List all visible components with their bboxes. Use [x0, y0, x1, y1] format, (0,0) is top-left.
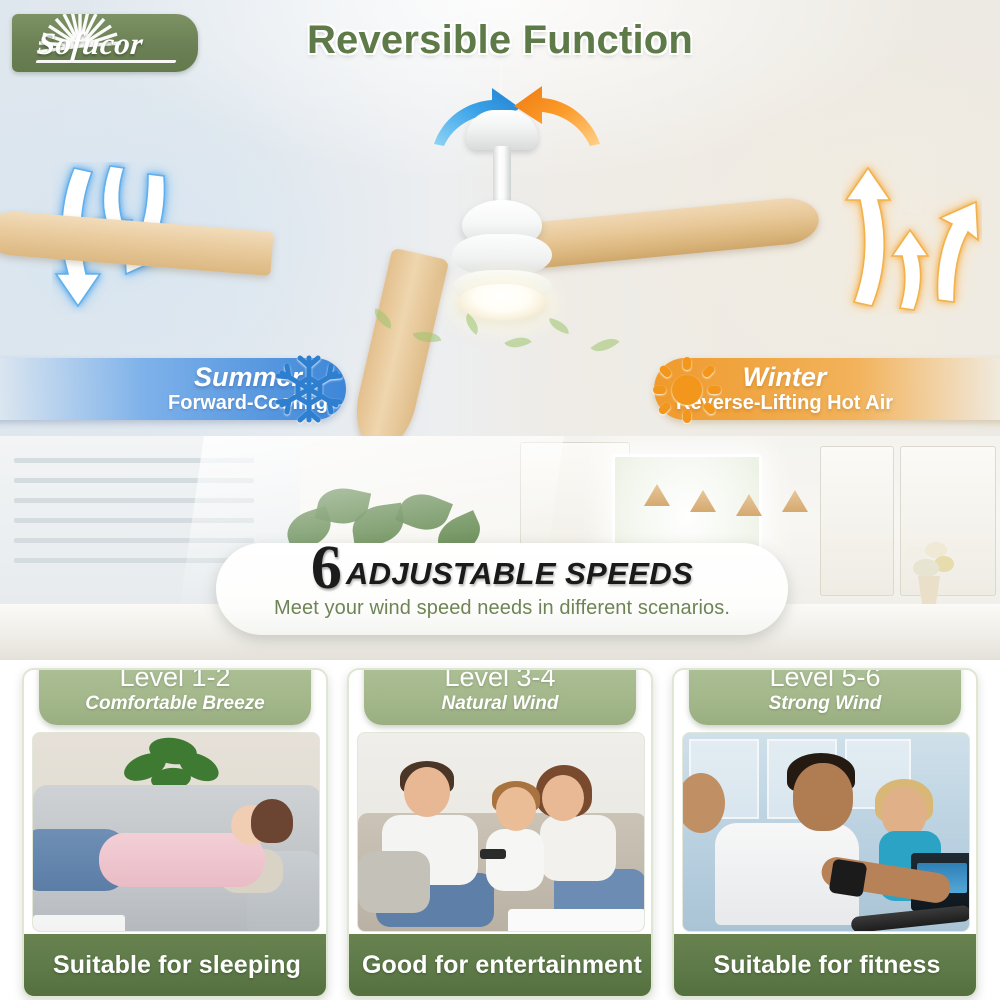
level-caption-3: Suitable for fitness [674, 934, 978, 996]
speeds-subtitle: Meet your wind speed needs in different … [274, 597, 730, 620]
armband-icon [829, 859, 868, 898]
window-blind-slat [14, 558, 254, 563]
window-blind-slat [14, 498, 254, 503]
adjustable-speeds-card: 6 ADJUSTABLE SPEEDS Meet your wind speed… [216, 543, 788, 635]
flower-vase-icon [898, 540, 958, 610]
level-range-3: Level 5-6 [769, 668, 880, 692]
fan-blade-left [0, 209, 274, 276]
level-range-1: Level 1-2 [119, 668, 230, 692]
level-wind-3: Strong Wind [769, 693, 882, 715]
family-watching-tv-photo [357, 732, 645, 932]
woman-relaxing-on-sofa-photo [32, 732, 320, 932]
level-pill-3: Level 5-6 Strong Wind [689, 668, 961, 725]
speed-count: 6 [311, 544, 340, 592]
level-caption-1: Suitable for sleeping [24, 934, 328, 996]
window-blind-slat [14, 538, 254, 543]
level-card-3[interactable]: Level 5-6 Strong Wind [672, 668, 978, 998]
ceiling-fan-icon [0, 104, 1000, 344]
caption-text-1: Suitable for sleeping [53, 951, 301, 980]
level-range-2: Level 3-4 [444, 668, 555, 692]
fan-canopy [466, 110, 538, 150]
caption-text-2: Good for entertainment [362, 951, 642, 980]
level-caption-2: Good for entertainment [349, 934, 653, 996]
people-exercising-gym-photo [682, 732, 970, 932]
level-pill-1: Level 1-2 Comfortable Breeze [39, 668, 311, 725]
remote-control-icon [480, 849, 506, 859]
pendant-lamp-icon [782, 490, 808, 512]
fan-led-light [458, 284, 546, 320]
level-card-1[interactable]: Level 1-2 Comfortable Breeze [22, 668, 328, 998]
window-blind-slat [14, 478, 254, 483]
room-cabinet [820, 446, 894, 596]
level-wind-1: Comfortable Breeze [85, 693, 265, 715]
caption-text-3: Suitable for fitness [713, 951, 940, 980]
fan-blade-right [518, 195, 821, 270]
snowflake-icon [270, 352, 348, 426]
level-card-2[interactable]: Level 3-4 Natural Wind [347, 668, 653, 998]
speed-level-cards: Level 1-2 Comfortable Breeze [0, 648, 1000, 1000]
infographic-page: Sofucor Reversible Function [0, 0, 1000, 1000]
speeds-title: ADJUSTABLE SPEEDS [346, 556, 693, 592]
window-blind-slat [14, 518, 254, 523]
window-blind-slat [14, 458, 254, 463]
level-wind-2: Natural Wind [442, 693, 559, 715]
sun-icon [652, 356, 722, 424]
page-title: Reversible Function [0, 18, 1000, 63]
level-pill-2: Level 3-4 Natural Wind [364, 668, 636, 725]
